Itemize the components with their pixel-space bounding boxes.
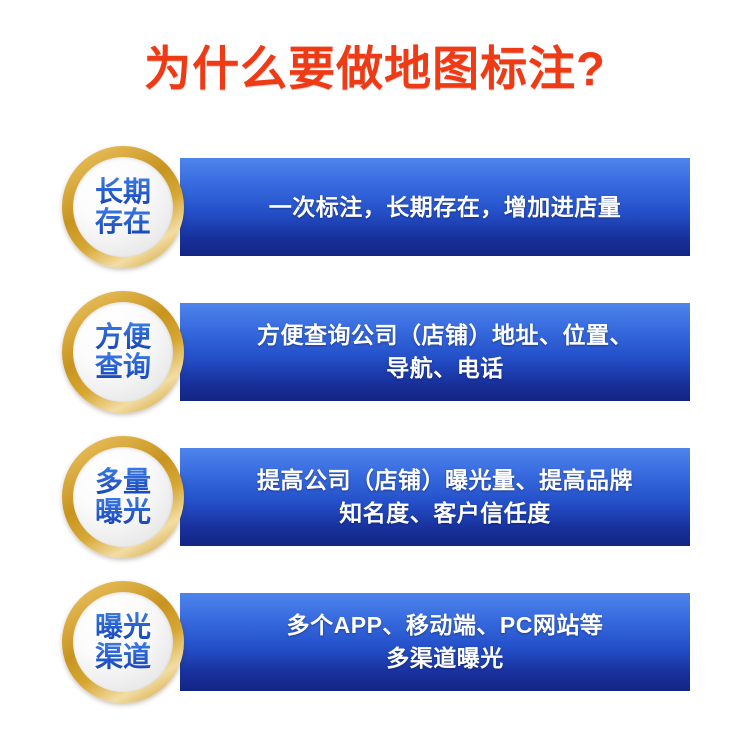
benefit-badge-line2: 曝光	[95, 497, 151, 527]
benefit-badge-inner: 长期 存在	[73, 157, 173, 257]
benefit-badge-line2: 渠道	[95, 642, 151, 672]
benefit-badge-line1: 方便	[95, 322, 151, 352]
infographic-poster: 为什么要做地图标注? 一次标注，长期存在，增加进店量 长期 存在 方便查询公司（…	[0, 0, 750, 750]
benefit-badge: 长期 存在	[62, 146, 184, 268]
benefit-badge-line2: 查询	[95, 352, 151, 382]
benefit-badge-line1: 多量	[95, 467, 151, 497]
benefit-badge-inner: 多量 曝光	[73, 447, 173, 547]
benefit-badge-inner: 方便 查询	[73, 302, 173, 402]
benefit-badge: 曝光 渠道	[62, 581, 184, 703]
benefit-bar	[180, 303, 690, 401]
benefit-badge-inner: 曝光 渠道	[73, 592, 173, 692]
benefit-badge: 多量 曝光	[62, 436, 184, 558]
benefit-badge-line1: 长期	[95, 177, 151, 207]
benefit-badge-line1: 曝光	[95, 612, 151, 642]
benefit-bar	[180, 593, 690, 691]
benefit-bar	[180, 448, 690, 546]
benefit-badge: 方便 查询	[62, 291, 184, 413]
page-title: 为什么要做地图标注?	[0, 42, 750, 96]
benefit-badge-line2: 存在	[95, 207, 151, 237]
benefit-bar	[180, 158, 690, 256]
